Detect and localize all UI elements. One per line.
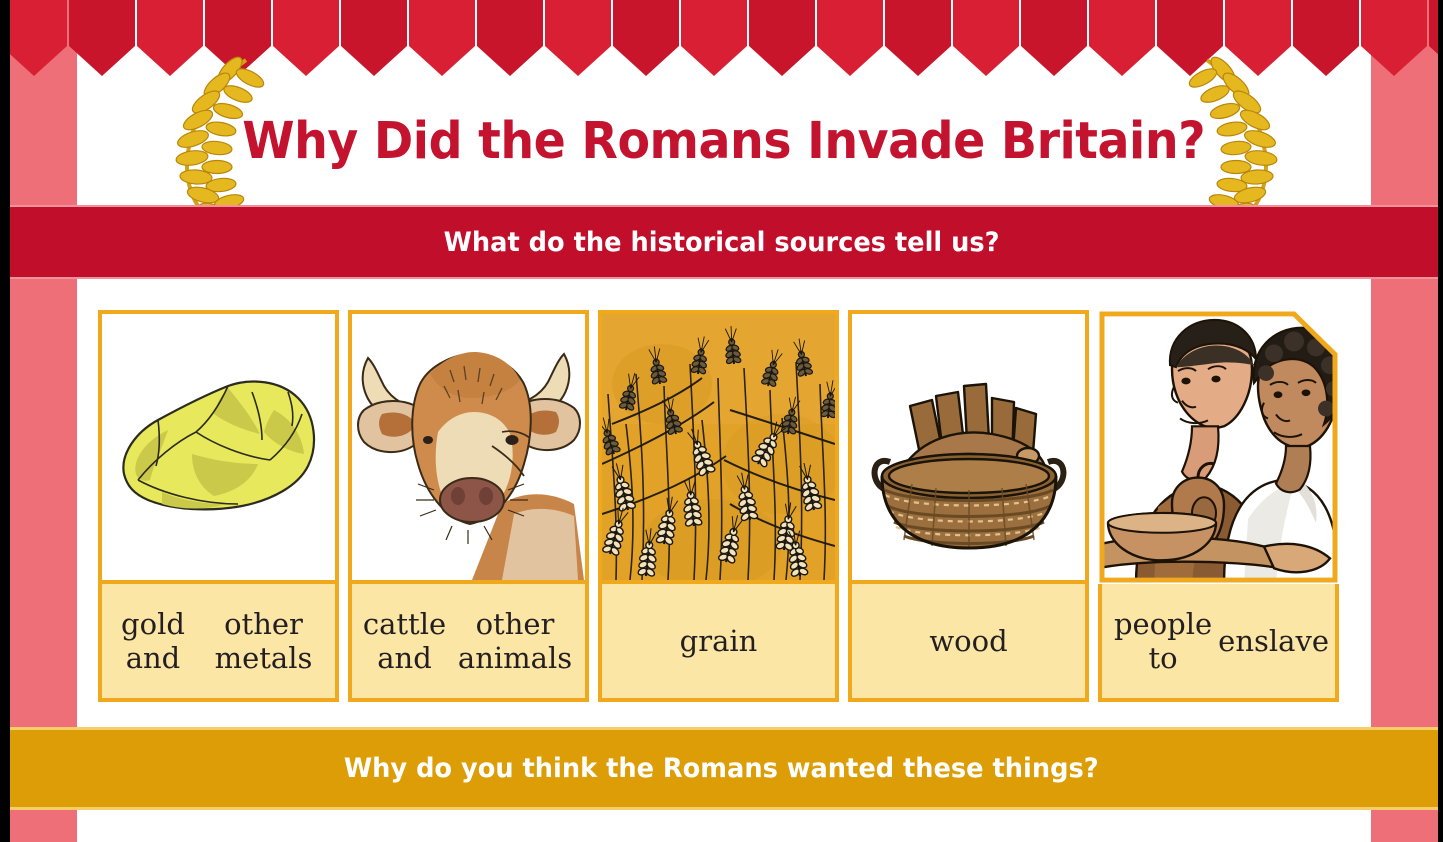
- resource-card-row: gold and other metals: [98, 310, 1356, 702]
- laurel-branch-icon: [1175, 52, 1295, 222]
- resource-card-label: wood: [848, 584, 1089, 702]
- resource-card-label: cattle and other animals: [348, 584, 589, 702]
- resource-card-gold[interactable]: gold and other metals: [98, 310, 339, 702]
- label-line-2: other animals: [451, 607, 579, 675]
- resource-card-grain[interactable]: grain: [598, 310, 839, 702]
- label-line-1: people to: [1108, 607, 1218, 675]
- label-line-1: gold and: [108, 607, 198, 675]
- footer-banner: Why do you think the Romans wanted these…: [0, 730, 1443, 807]
- laurel-branch-icon: [158, 52, 278, 222]
- label-line-1: cattle and: [358, 607, 451, 675]
- slide-root: Why Did the Romans Invade Britain?: [0, 0, 1443, 842]
- gold-nugget-illustration: [98, 310, 339, 584]
- footer-banner-text: Why do you think the Romans wanted these…: [344, 753, 1099, 784]
- resource-card-label: people to enslave: [1098, 584, 1339, 702]
- label-line-2: enslave: [1218, 624, 1329, 658]
- resource-card-cattle[interactable]: cattle and other animals: [348, 310, 589, 702]
- subtitle-banner-text: What do the historical sources tell us?: [444, 227, 1000, 258]
- label-line-1: wood: [929, 624, 1007, 658]
- label-line-2: other metals: [198, 607, 329, 675]
- label-line-1: grain: [680, 624, 758, 658]
- resource-card-enslaved-people[interactable]: people to enslave: [1098, 310, 1339, 702]
- basket-of-firewood-illustration: [848, 310, 1089, 584]
- resource-card-wood[interactable]: wood: [848, 310, 1089, 702]
- resource-card-label: grain: [598, 584, 839, 702]
- wheat-field-illustration: [598, 310, 839, 584]
- subtitle-banner: What do the historical sources tell us?: [0, 207, 1443, 277]
- left-pink-band: [10, 0, 77, 842]
- left-edge: [0, 0, 10, 842]
- two-roman-servants-illustration: [1098, 310, 1339, 584]
- cow-head-illustration: [348, 310, 589, 584]
- page-title: Why Did the Romans Invade Britain?: [242, 112, 1205, 171]
- resource-card-label: gold and other metals: [98, 584, 339, 702]
- right-pink-band: [1371, 0, 1438, 842]
- right-edge: [1438, 0, 1443, 842]
